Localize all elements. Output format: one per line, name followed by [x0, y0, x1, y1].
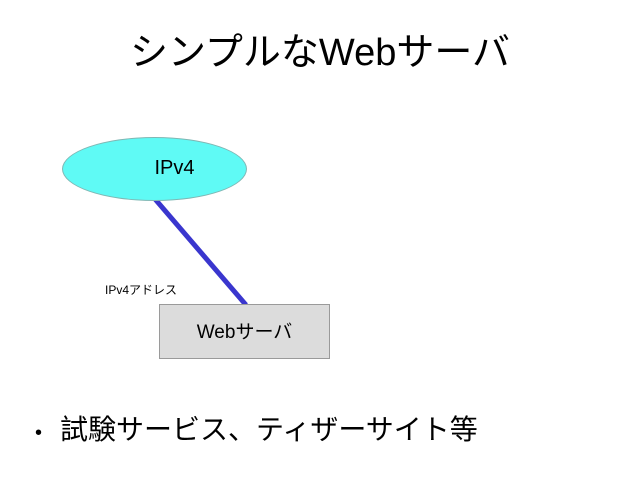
- node-webserver-box[interactable]: Webサーバ: [159, 304, 330, 359]
- node-ipv4-cloud-label: IPv4: [63, 156, 248, 180]
- list-item-label: 試験サービス、ティザーサイト等: [60, 411, 478, 449]
- node-ipv4-cloud[interactable]: IPv4: [62, 137, 247, 201]
- bullet-marker-icon: •: [30, 414, 60, 452]
- list-item: • 試験サービス、ティザーサイト等: [30, 411, 610, 452]
- page-title: シンプルなWebサーバ: [0, 30, 640, 76]
- slide-canvas: シンプルなWebサーバ IPv4 IPv4アドレス Webサーバ • 試験サービ…: [0, 0, 640, 480]
- bullet-list: • 試験サービス、ティザーサイト等: [30, 411, 610, 452]
- node-webserver-box-label: Webサーバ: [160, 321, 329, 344]
- connector-label-ipv4-address: IPv4アドレス: [105, 282, 177, 298]
